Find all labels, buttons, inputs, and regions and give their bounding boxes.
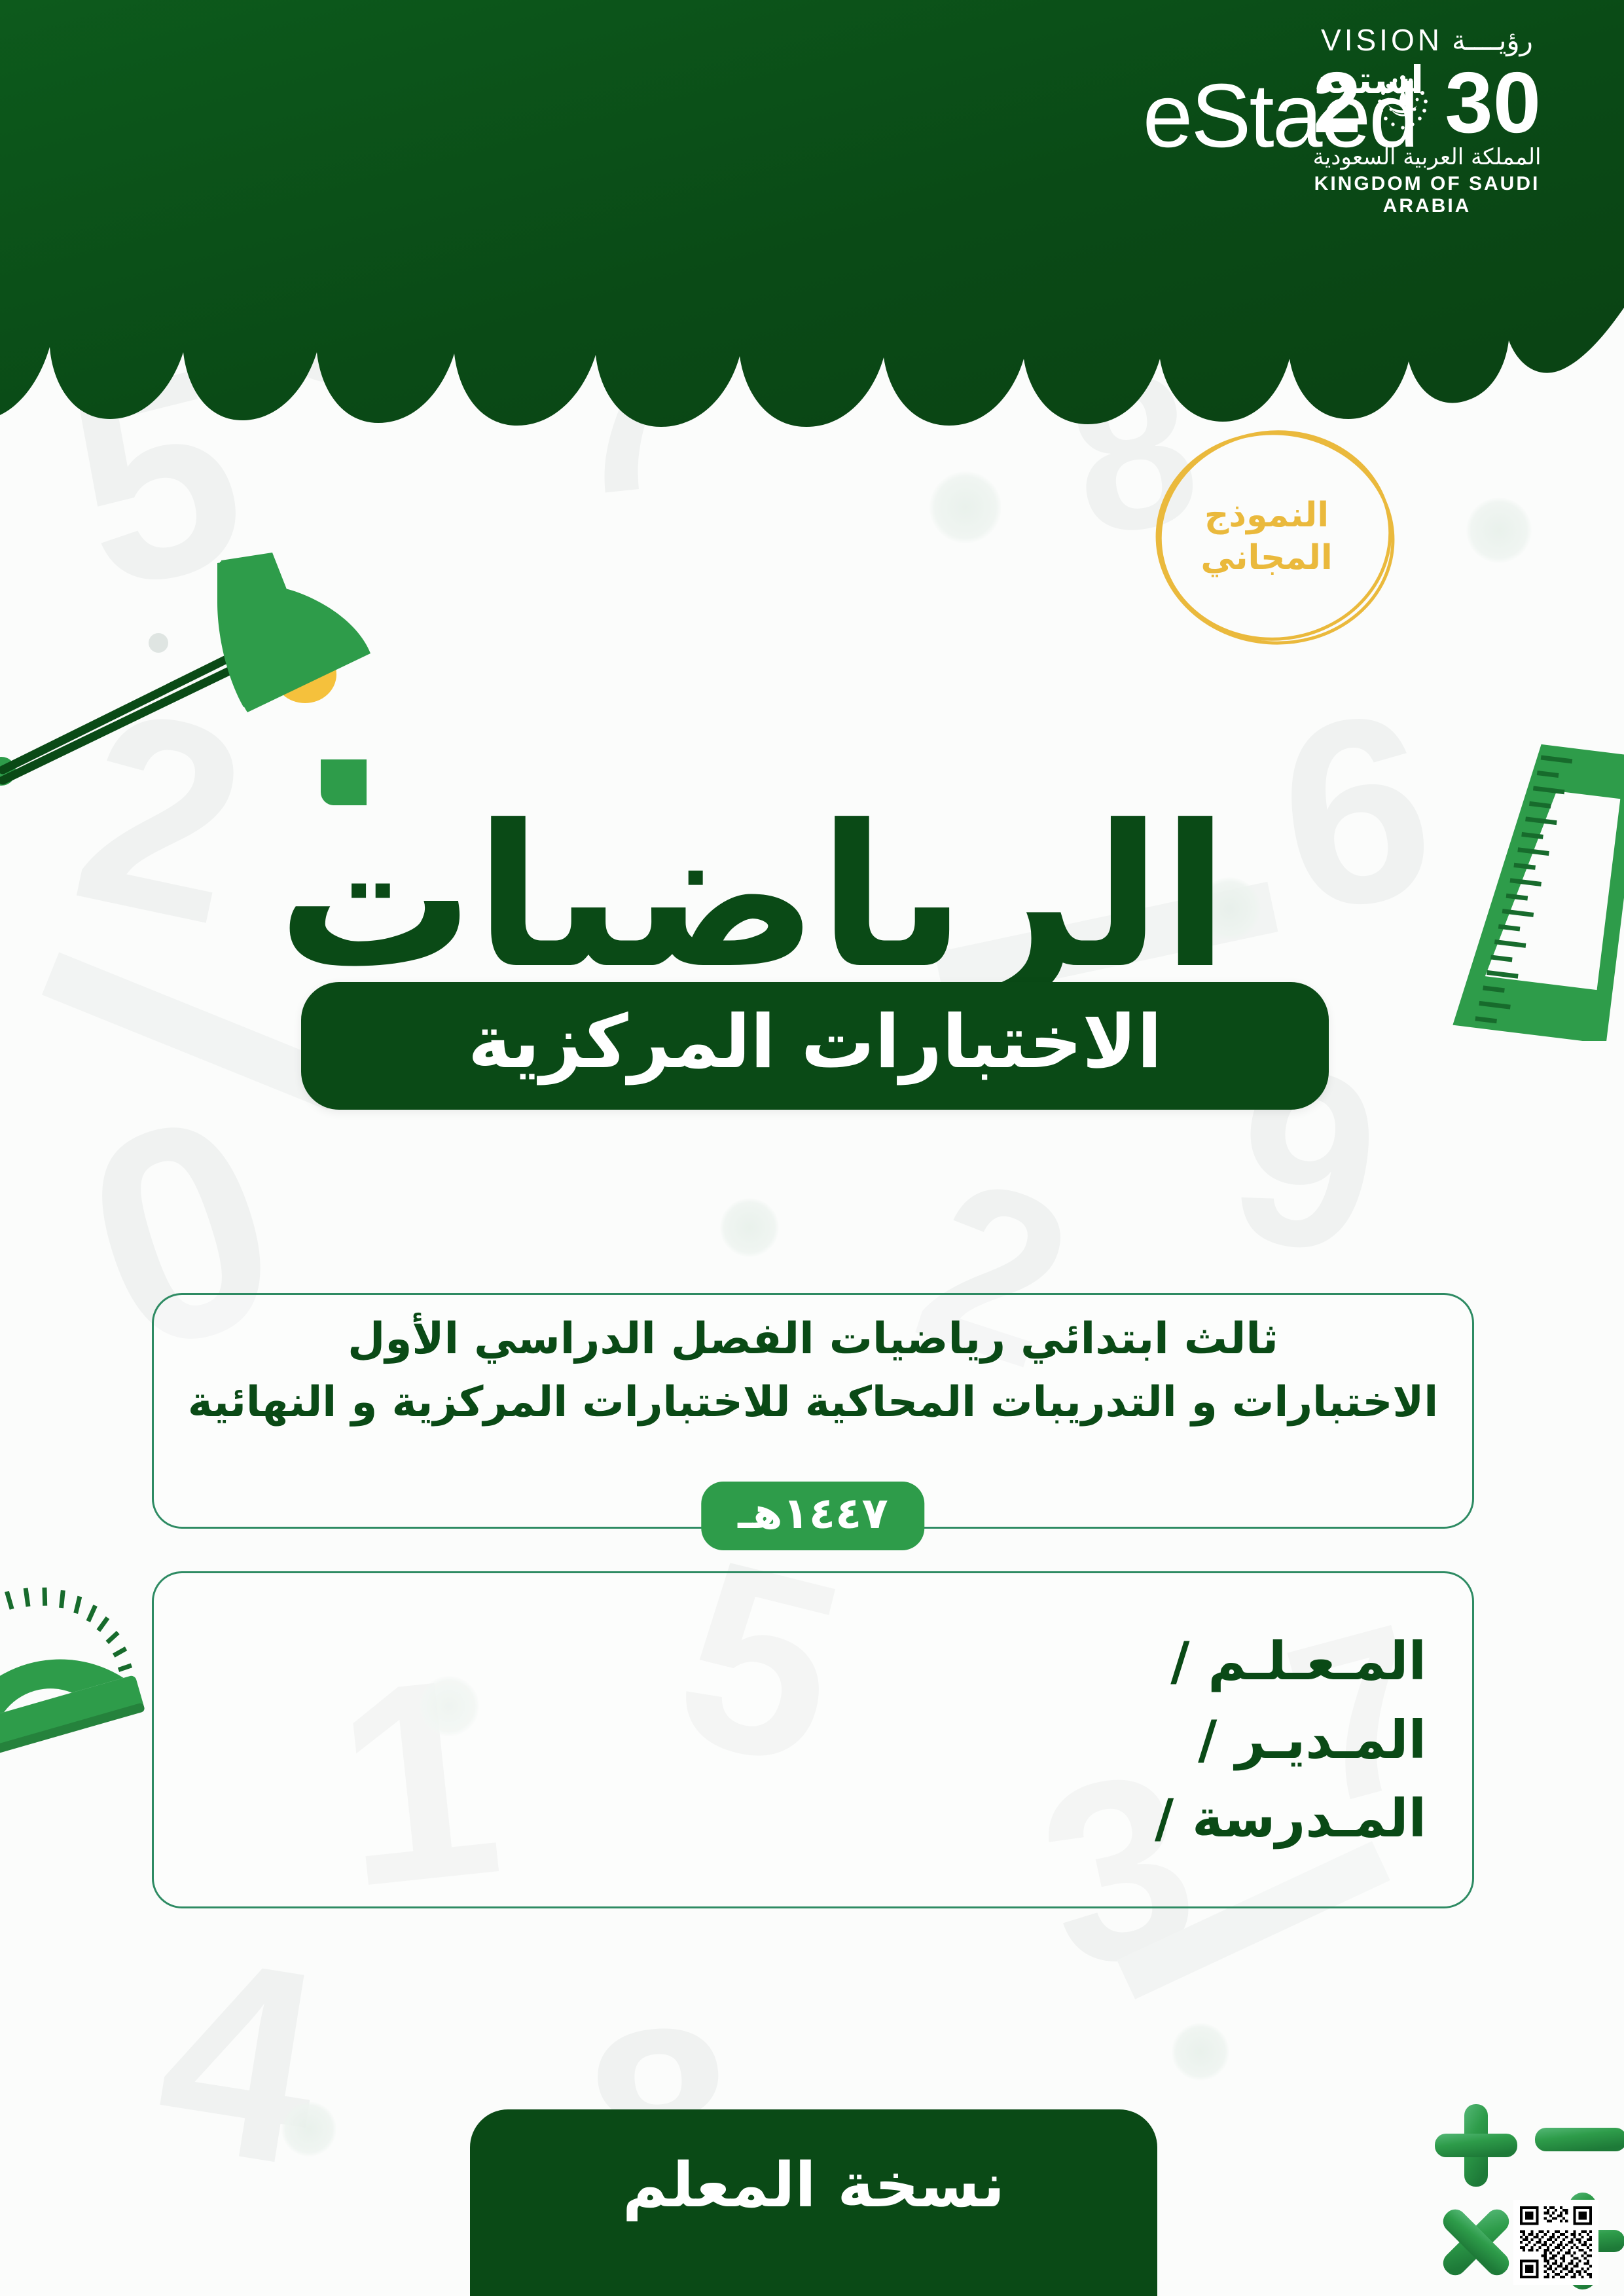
subtitle-pill: الاختبارات المركزية (301, 982, 1329, 1110)
vision-kingdom-ar: المملكة العربية السعودية (1273, 144, 1581, 170)
cover-page: 5 3 7 4 8 2 6 0 9 1 5 3 4 7 8 2 (0, 0, 1624, 2296)
watermark-digit: 4 (147, 1941, 333, 2181)
watermark-dot (720, 1198, 779, 1257)
page-title: الرياضيات (0, 799, 1624, 996)
vision-word-en: VISION (1321, 22, 1443, 58)
qr-code-icon[interactable] (1513, 2200, 1598, 2285)
watermark-dot (281, 2102, 336, 2157)
copy-type-label: نسخة المعلم (623, 2150, 1005, 2259)
principal-field-label[interactable]: المـديـر / (154, 1710, 1426, 1770)
school-field-label[interactable]: المـدرسة / (154, 1789, 1426, 1849)
vision-year: 2 (1273, 60, 1581, 145)
badge-line-1: النموذج (1204, 494, 1329, 537)
minus-operator-icon (1535, 2128, 1624, 2151)
course-info-line-1: ثالث ابتدائي رياضيات الفصل الدراسي الأول (154, 1309, 1472, 1368)
page-subtitle: الاختبارات المركزية (468, 1006, 1162, 1087)
course-info-box: ثالث ابتدائي رياضيات الفصل الدراسي الأول… (152, 1293, 1474, 1529)
name-fields-box: المـعـلـم / المـديـر / المـدرسة / (152, 1571, 1474, 1908)
vision-kingdom-en: KINGDOM OF SAUDI ARABIA (1273, 173, 1581, 217)
free-sample-badge: النموذج المجاني (1147, 419, 1402, 655)
page-header: استعد eStaed VISION رؤيــــة 2 (0, 0, 1624, 419)
saudi-emblem-icon (1363, 64, 1442, 142)
teacher-field-label[interactable]: المـعـلـم / (154, 1631, 1426, 1692)
badge-text: النموذج المجاني (1147, 419, 1402, 655)
copy-type-bar: نسخة المعلم (470, 2109, 1157, 2296)
vision-digit-30: 30 (1445, 60, 1541, 146)
hijri-year-badge: ١٤٤٧هـ (701, 1482, 924, 1550)
vision-2030-logo: VISION رؤيــــة 2 (1273, 20, 1581, 216)
vision-digit-2: 2 (1313, 60, 1361, 146)
badge-line-2: المجاني (1200, 537, 1332, 579)
vision-word-ar: رؤيــــة (1452, 24, 1533, 56)
watermark-dot (1172, 2023, 1229, 2081)
plus-operator-icon (1435, 2104, 1517, 2187)
watermark-dot (1466, 498, 1532, 563)
course-info-line-2: الاختبارات و التدريبات المحاكية للاختبار… (154, 1374, 1472, 1430)
